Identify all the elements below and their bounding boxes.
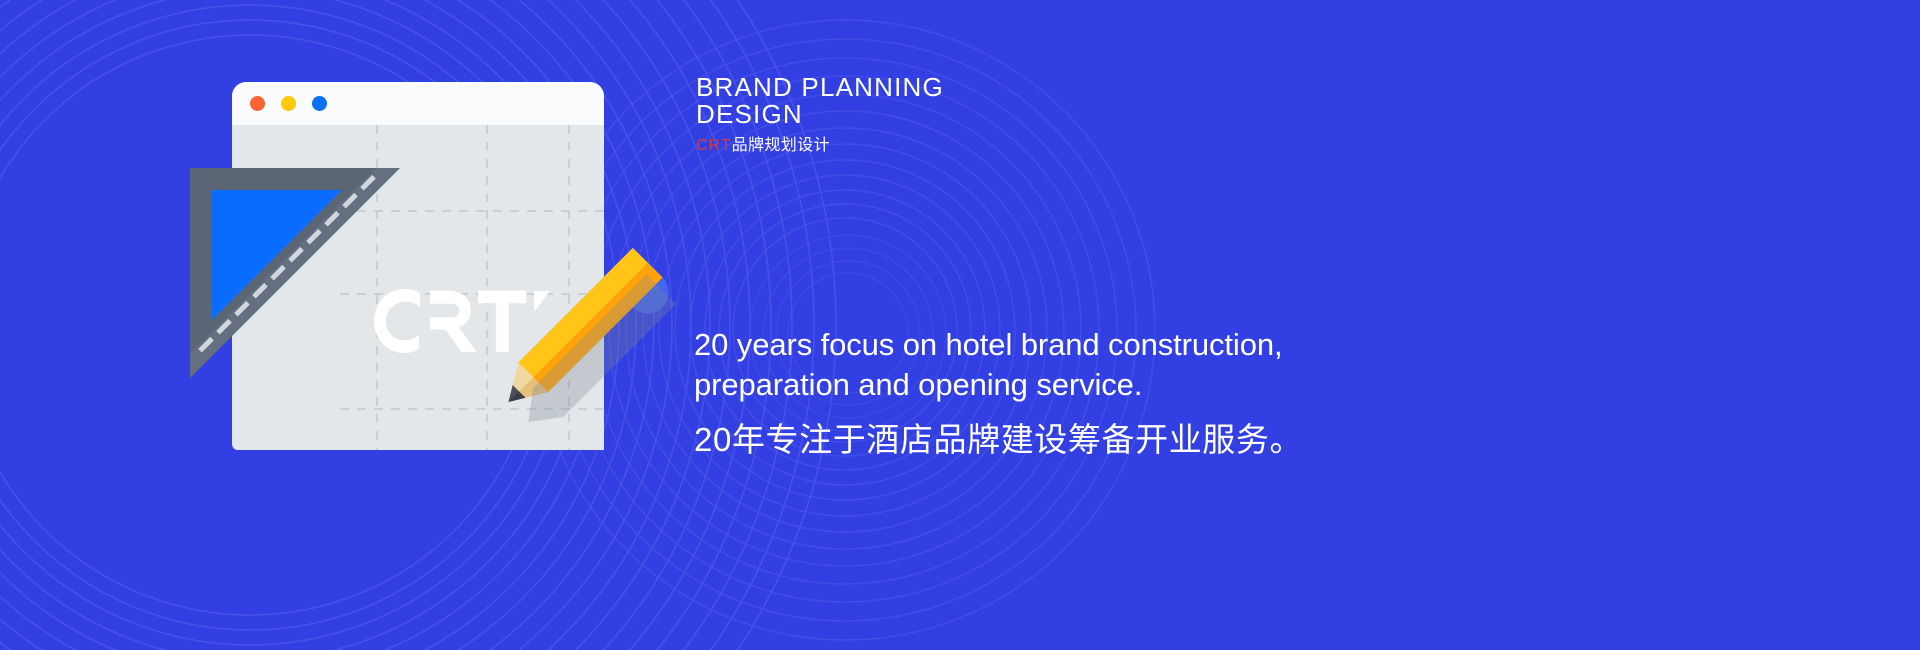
tagline-english: 20 years focus on hotel brand constructi… <box>694 325 1454 405</box>
triangle-ruler-icon <box>190 168 400 378</box>
maximize-dot <box>312 96 327 111</box>
brand-subtitle: CRT品牌规划设计 <box>696 136 1396 156</box>
brand-mark-crt: CRT <box>696 137 732 154</box>
pencil-shadow <box>492 243 707 458</box>
hero-banner: BRAND PLANNING DESIGN CRT品牌规划设计 20 years… <box>0 0 1920 650</box>
minimize-dot <box>281 96 296 111</box>
tagline-chinese: 20年专注于酒店品牌建设筹备开业服务。 <box>694 418 1454 462</box>
browser-title-bar <box>232 82 604 125</box>
page-title: BRAND PLANNING DESIGN <box>696 74 1396 128</box>
tagline-block: 20 years focus on hotel brand constructi… <box>694 325 1454 462</box>
brand-subtitle-cn: 品牌规划设计 <box>732 137 830 154</box>
close-dot <box>250 96 265 111</box>
headline-block: BRAND PLANNING DESIGN CRT品牌规划设计 <box>696 74 1396 156</box>
